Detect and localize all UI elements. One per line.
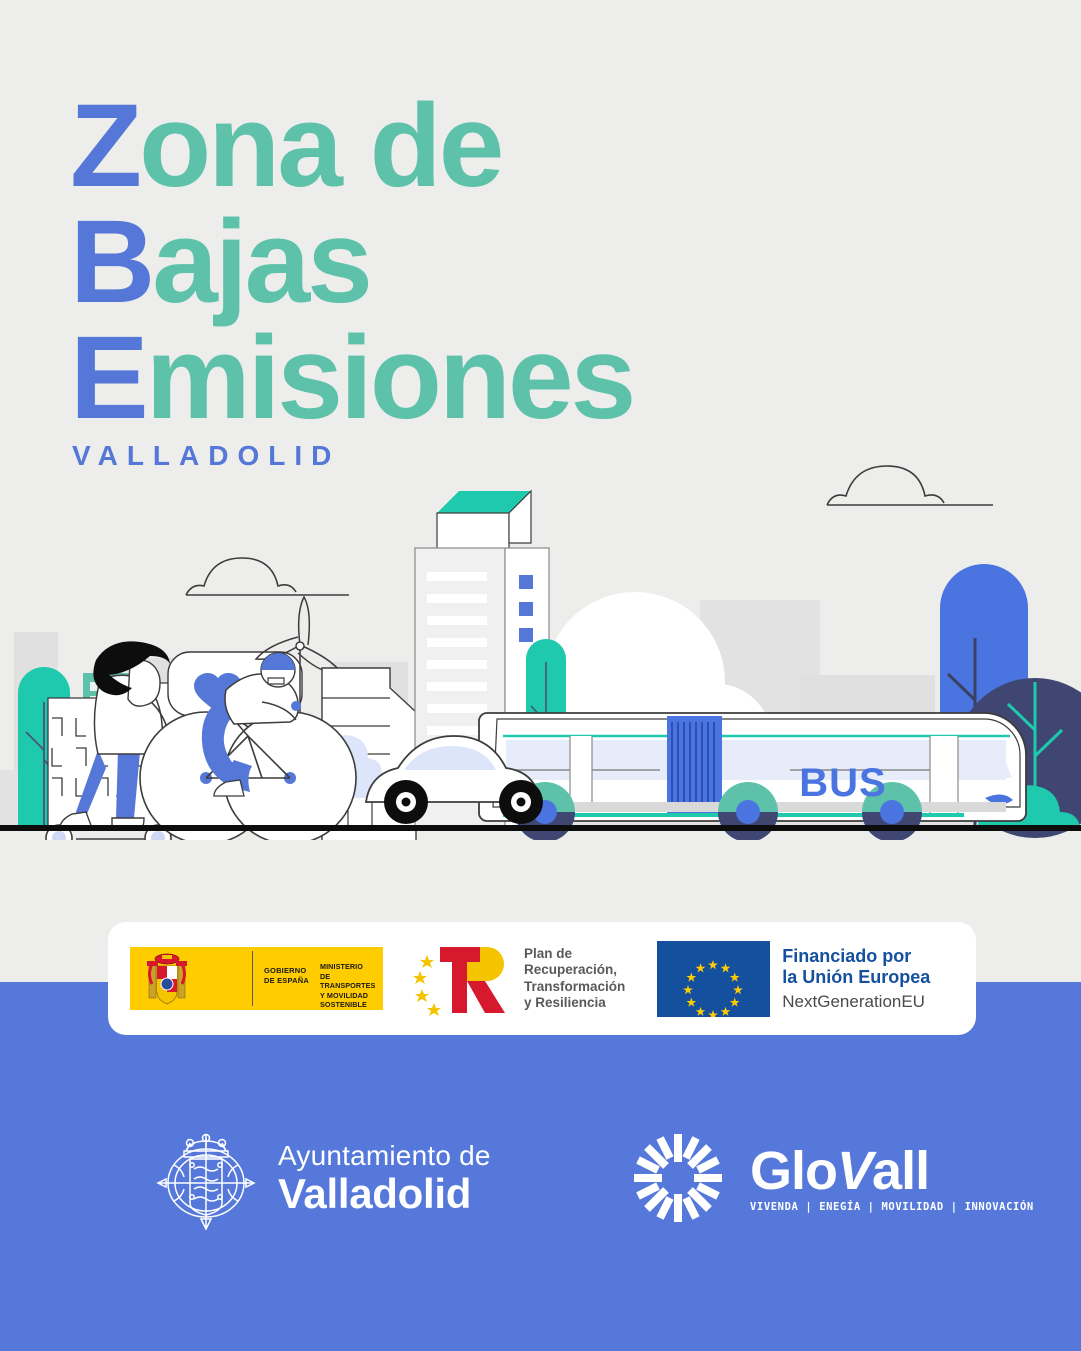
glovall-burst-icon <box>628 1128 728 1228</box>
prtr-mark-icon <box>413 941 515 1017</box>
glovall-part-2: V <box>837 1141 872 1201</box>
ministry-line-2: DE TRANSPORTES <box>320 972 383 991</box>
brand-row: Ayuntamiento de Valladolid <box>0 1120 1081 1250</box>
logo-financiado-union-europea: Financiado por la Unión Europea NextGene… <box>657 941 930 1017</box>
gobierno-divider <box>252 951 253 1006</box>
headline-rest-1: ona de <box>139 80 501 212</box>
spain-coat-of-arms-icon <box>144 950 190 1008</box>
headline-line-3: Emisiones <box>70 320 830 436</box>
logo-gobierno-de-espana: GOBIERNO DE ESPAÑA MINISTERIO DE TRANSPO… <box>130 947 383 1010</box>
eu-text-block: Financiado por la Unión Europea NextGene… <box>782 946 930 1012</box>
eu-flag-icon <box>657 941 770 1017</box>
ayuntamiento-line-1: Ayuntamiento de <box>278 1139 491 1172</box>
headline-line-2: Bajas <box>70 204 830 320</box>
funding-logos-card: GOBIERNO DE ESPAÑA MINISTERIO DE TRANSPO… <box>108 922 976 1035</box>
headline-rest-3: misiones <box>146 312 634 444</box>
gobierno-flag: GOBIERNO DE ESPAÑA MINISTERIO DE TRANSPO… <box>130 947 383 1010</box>
glovall-wordmark: GloVall <box>750 1143 1034 1199</box>
ayuntamiento-line-2: Valladolid <box>278 1172 491 1216</box>
prtr-line-1: Plan de <box>524 946 625 963</box>
gobierno-line-2: DE ESPAÑA <box>264 976 309 986</box>
glovall-part-3: all <box>872 1141 929 1201</box>
glovall-text: GloVall VIVENDA | ENEGÍA | MOVILIDAD | I… <box>750 1143 1034 1213</box>
ministry-line-1: MINISTERIO <box>320 962 383 972</box>
ministry-name: MINISTERIO DE TRANSPORTES Y MOVILIDAD SO… <box>320 962 383 1010</box>
ministry-line-3: Y MOVILIDAD SOSTENIBLE <box>320 991 383 1010</box>
headline-cap-b: B <box>70 196 152 328</box>
headline-rest-2: ajas <box>152 196 370 328</box>
gobierno-line-1: GOBIERNO <box>264 966 309 976</box>
prtr-text-block: Plan de Recuperación, Transformación y R… <box>524 946 625 1012</box>
valladolid-crest-icon <box>150 1121 262 1233</box>
page-title: Zona de Bajas Emisiones <box>70 88 830 436</box>
headline-cap-z: Z <box>70 80 139 212</box>
logo-ayuntamiento-valladolid: Ayuntamiento de Valladolid <box>150 1121 491 1233</box>
logo-plan-recuperacion: Plan de Recuperación, Transformación y R… <box>413 941 625 1017</box>
city-illustration: BUS <box>0 430 1081 840</box>
poster-root: Zona de Bajas Emisiones VALLADOLID <box>0 0 1081 1351</box>
cloud-outline-right <box>827 466 993 505</box>
prtr-line-2: Recuperación, <box>524 962 625 979</box>
ayuntamiento-text: Ayuntamiento de Valladolid <box>278 1139 491 1216</box>
cloud-outline-left <box>186 558 349 595</box>
electric-bus: BUS <box>479 713 1026 840</box>
eu-line-1: Financiado por <box>782 946 930 967</box>
glovall-part-1: Glo <box>750 1141 837 1201</box>
headline-cap-e: E <box>70 312 146 444</box>
eu-line-2: la Unión Europea <box>782 967 930 988</box>
headline-line-1: Zona de <box>70 88 830 204</box>
glovall-tagline: VIVENDA | ENEGÍA | MOVILIDAD | INNOVACIÓ… <box>750 1201 1034 1213</box>
bus-label: BUS <box>799 761 886 805</box>
eu-line-3: NextGenerationEU <box>782 991 930 1012</box>
prtr-line-4: y Resiliencia <box>524 995 625 1012</box>
prtr-line-3: Transformación <box>524 979 625 996</box>
logo-glovall: GloVall VIVENDA | ENEGÍA | MOVILIDAD | I… <box>628 1128 1034 1228</box>
gobierno-name: GOBIERNO DE ESPAÑA <box>264 966 309 985</box>
